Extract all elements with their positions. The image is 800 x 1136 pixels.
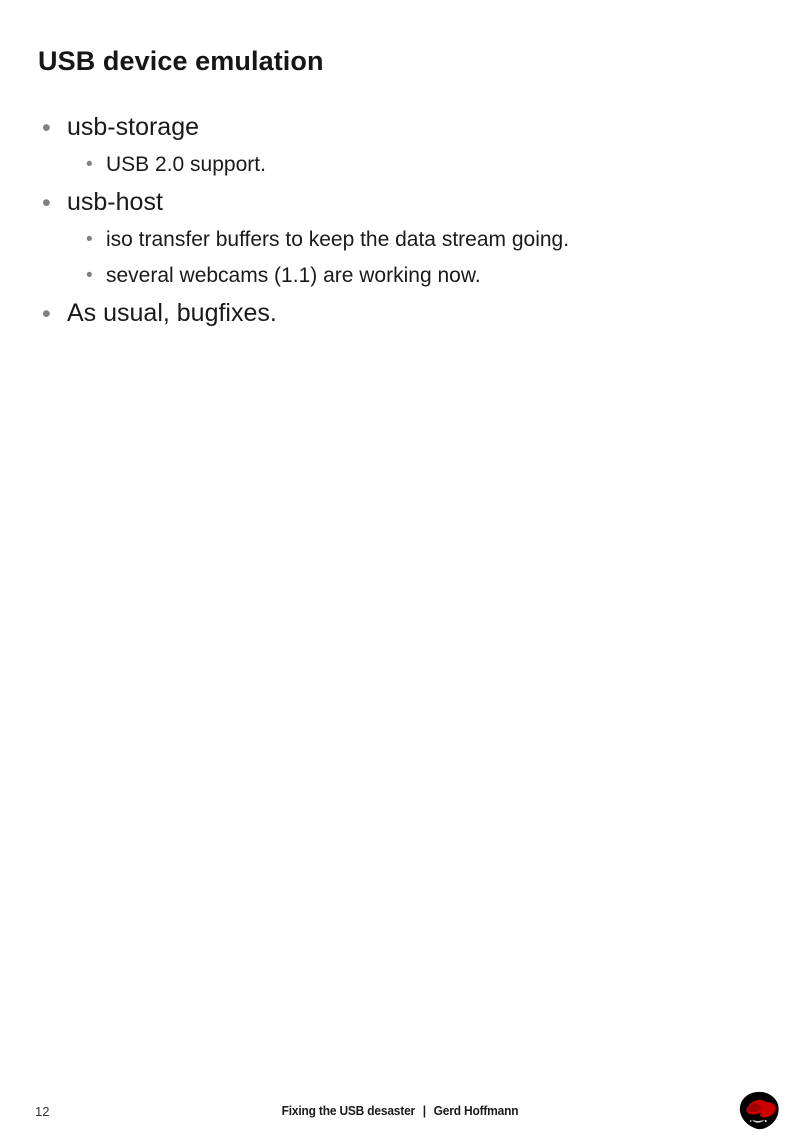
bullet-dot-icon: • bbox=[42, 298, 67, 327]
list-item: • several webcams (1.1) are working now. bbox=[36, 262, 756, 289]
footer-presentation-title: Fixing the USB desaster bbox=[282, 1103, 415, 1118]
bullet-dot-icon: • bbox=[42, 187, 67, 216]
list-item-label: several webcams (1.1) are working now. bbox=[106, 262, 756, 289]
list-item: • usb-host bbox=[36, 187, 756, 217]
page-title: USB device emulation bbox=[38, 44, 324, 78]
slide-canvas: USB device emulation • usb-storage • USB… bbox=[0, 0, 800, 600]
footer-author: Gerd Hoffmann bbox=[434, 1103, 519, 1118]
list-item: • USB 2.0 support. bbox=[36, 151, 756, 178]
list-item-label: iso transfer buffers to keep the data st… bbox=[106, 226, 756, 253]
list-item: • usb-storage bbox=[36, 112, 756, 142]
bullet-dot-icon: • bbox=[86, 262, 106, 285]
slide-footer: 12 Fixing the USB desaster | Gerd Hoffma… bbox=[0, 540, 800, 600]
list-item-label: usb-host bbox=[67, 187, 756, 217]
list-item-label: usb-storage bbox=[67, 112, 756, 142]
red-hat-shadowman-logo bbox=[738, 1091, 780, 1131]
bullet-dot-icon: • bbox=[86, 226, 106, 249]
bullet-dot-icon: • bbox=[86, 151, 106, 174]
list-item-label: USB 2.0 support. bbox=[106, 151, 756, 178]
footer-separator: | bbox=[418, 1103, 430, 1118]
list-item-label: As usual, bugfixes. bbox=[67, 298, 756, 328]
list-item: • As usual, bugfixes. bbox=[36, 298, 756, 328]
bullet-list: • usb-storage • USB 2.0 support. • usb-h… bbox=[36, 112, 756, 337]
list-item: • iso transfer buffers to keep the data … bbox=[36, 226, 756, 253]
bullet-dot-icon: • bbox=[42, 112, 67, 141]
footer-caption: Fixing the USB desaster | Gerd Hoffmann bbox=[32, 1103, 768, 1118]
